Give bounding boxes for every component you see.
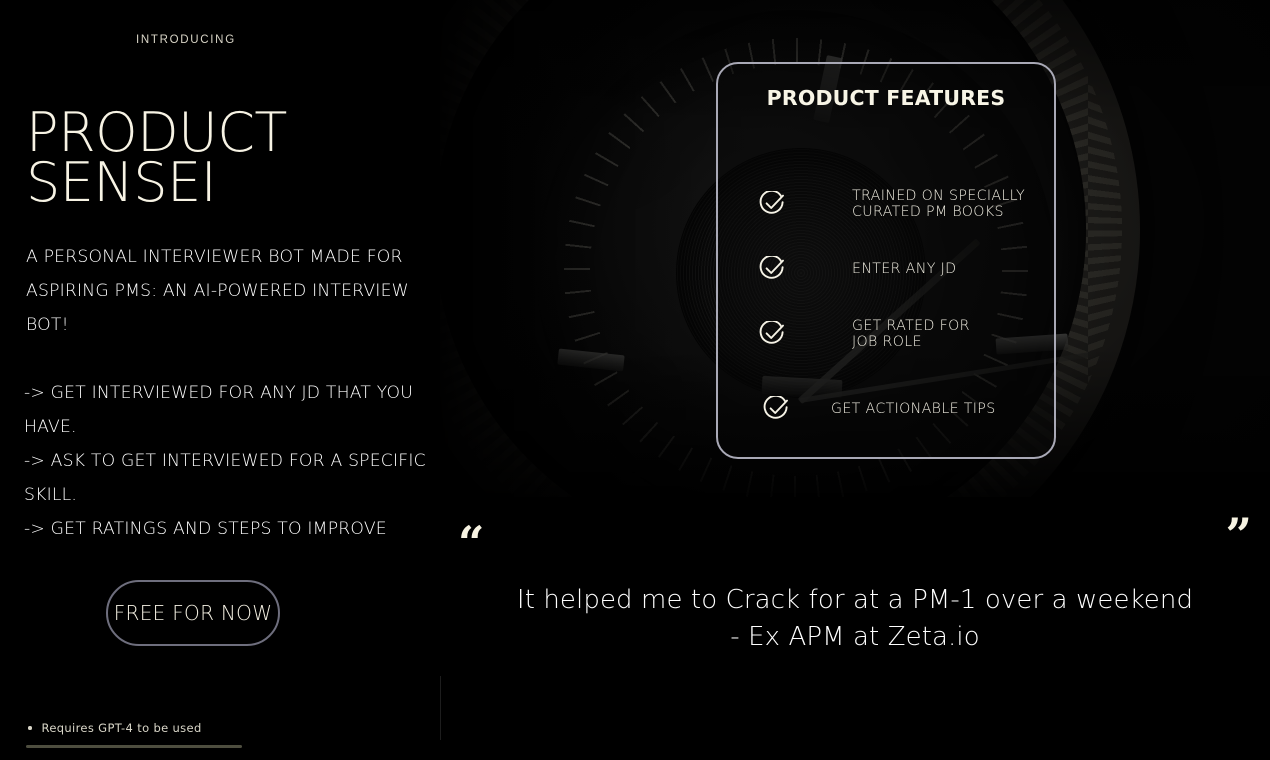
check-circle-icon: [759, 256, 785, 282]
feature-label: GET ACTIONABLE TIPS: [831, 401, 996, 417]
footnote: Requires GPT-4 to be used: [28, 721, 202, 735]
check-circle-icon: [759, 191, 785, 217]
panel-title: PRODUCT FEATURES: [718, 86, 1054, 110]
list-item: -> GET INTERVIEWED FOR ANY JD THAT YOU H…: [24, 376, 436, 444]
column-divider: [440, 676, 441, 740]
slide-canvas: INTRODUCING PRODUCT SENSEI A PERSONAL IN…: [0, 0, 1270, 760]
hero-bullet-list: -> GET INTERVIEWED FOR ANY JD THAT YOU H…: [24, 376, 436, 546]
feature-label: TRAINED ON SPECIALLY CURATED PM BOOKS: [852, 188, 1025, 220]
page-title-line-2: SENSEI: [26, 158, 426, 208]
progress-bar[interactable]: [26, 745, 242, 748]
list-item: -> GET RATINGS AND STEPS TO IMPROVE: [24, 512, 436, 546]
feature-label: ENTER ANY JD: [852, 261, 956, 277]
feature-item: ENTER ANY JD: [759, 256, 956, 282]
feature-item: GET RATED FOR JOB ROLE: [759, 318, 970, 350]
bullet-dot-icon: [28, 726, 32, 730]
check-circle-icon: [763, 396, 789, 422]
hero-description: A PERSONAL INTERVIEWER BOT MADE FOR ASPI…: [26, 240, 438, 342]
product-features-panel: PRODUCT FEATURES TRAINED ON SPECIALLY CU…: [716, 62, 1056, 459]
feature-item: GET ACTIONABLE TIPS: [763, 396, 996, 422]
close-quote-icon: ”: [1226, 512, 1252, 558]
list-item: -> ASK TO GET INTERVIEWED FOR A SPECIFIC…: [24, 444, 436, 512]
testimonial-section: “ ” It helped me to Crack for at a PM-1 …: [440, 510, 1270, 680]
feature-item: TRAINED ON SPECIALLY CURATED PM BOOKS: [759, 188, 1025, 220]
left-content-column: INTRODUCING PRODUCT SENSEI A PERSONAL IN…: [0, 0, 440, 760]
free-for-now-button[interactable]: FREE FOR NOW: [106, 580, 280, 646]
testimonial-text: It helped me to Crack for at a PM-1 over…: [500, 582, 1210, 656]
feature-label: GET RATED FOR JOB ROLE: [852, 318, 970, 350]
footnote-label: Requires GPT-4 to be used: [42, 721, 202, 735]
page-title: PRODUCT SENSEI: [26, 108, 426, 207]
check-circle-icon: [759, 321, 785, 347]
open-quote-icon: “: [458, 520, 484, 566]
eyebrow-label: INTRODUCING: [136, 34, 236, 46]
